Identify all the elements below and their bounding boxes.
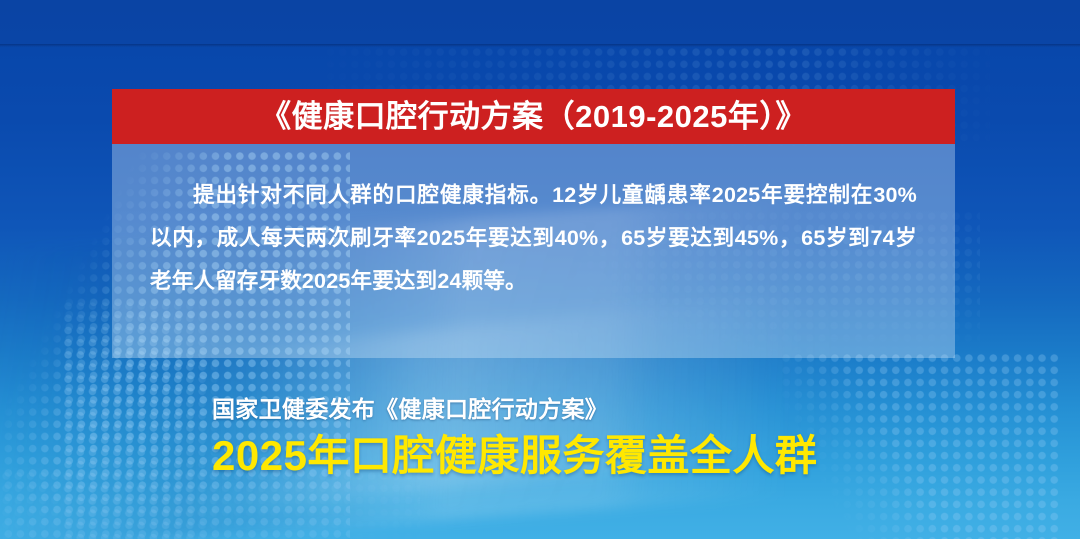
policy-document-body-text: 提出针对不同人群的口腔健康指标。12岁儿童龋患率2025年要控制在30%以内，成…	[150, 174, 917, 303]
policy-document-title: 《健康口腔行动方案（2019-2025年）》	[260, 101, 807, 132]
slide-canvas: 《健康口腔行动方案（2019-2025年）》 提出针对不同人群的口腔健康指标。1…	[0, 0, 1080, 539]
policy-document-card: 《健康口腔行动方案（2019-2025年）》 提出针对不同人群的口腔健康指标。1…	[112, 89, 955, 358]
caption-headline: 2025年口腔健康服务覆盖全人群	[212, 431, 972, 481]
policy-document-body-panel: 提出针对不同人群的口腔健康指标。12岁儿童龋患率2025年要控制在30%以内，成…	[112, 144, 955, 358]
lower-caption-block: 国家卫健委发布《健康口腔行动方案》 2025年口腔健康服务覆盖全人群	[212, 394, 972, 481]
policy-document-title-banner: 《健康口腔行动方案（2019-2025年）》	[112, 89, 955, 144]
background-seam-line	[0, 44, 1080, 47]
caption-subtitle: 国家卫健委发布《健康口腔行动方案》	[212, 394, 972, 424]
